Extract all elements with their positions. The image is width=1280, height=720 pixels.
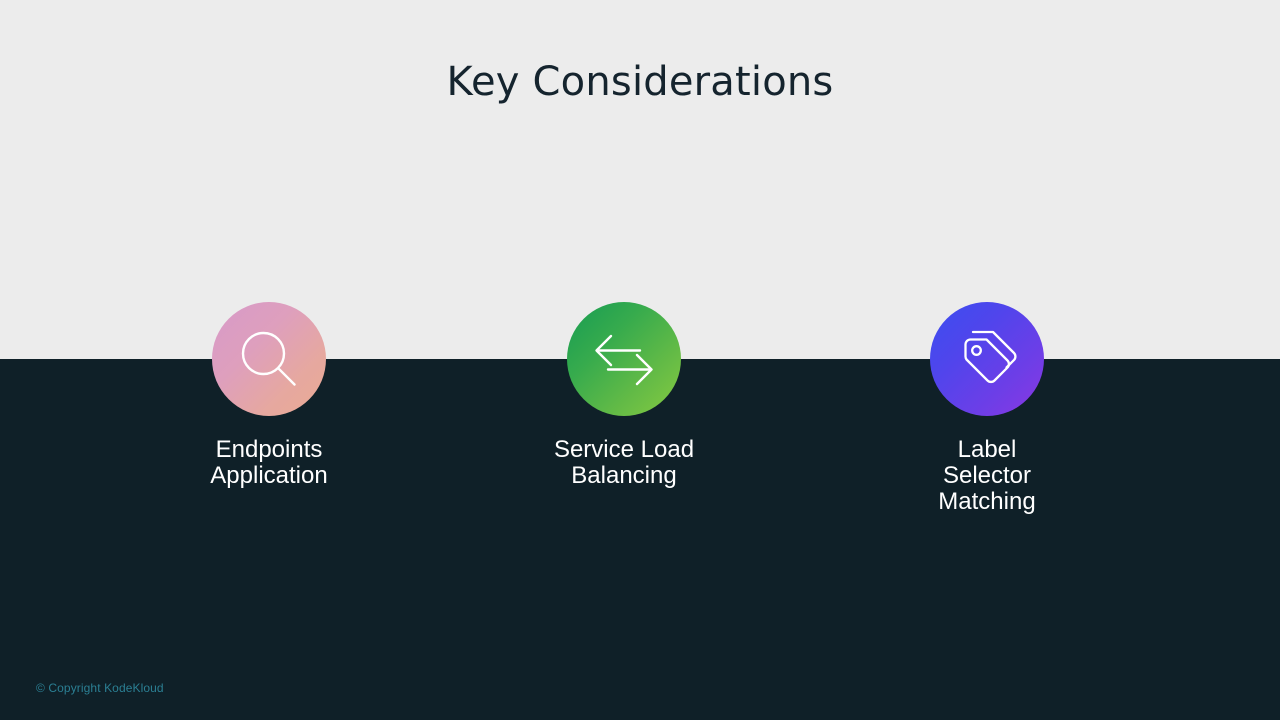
badge-endpoints-application: [212, 302, 326, 416]
label-line: Endpoints: [139, 437, 399, 463]
consideration-item-label-selector-matching[interactable]: Label Selector Matching: [857, 302, 1117, 515]
consideration-item-service-load-balancing[interactable]: Service Load Balancing: [494, 302, 754, 489]
label-line: Matching: [857, 489, 1117, 515]
label-line: Service Load: [494, 437, 754, 463]
badge-service-load-balancing: [567, 302, 681, 416]
slide-canvas: Key Considerations Endpoints Application: [0, 0, 1280, 720]
consideration-label-endpoints-application: Endpoints Application: [139, 437, 399, 489]
label-line: Application: [139, 463, 399, 489]
considerations-row: Endpoints Application: [0, 302, 1280, 602]
label-line: Balancing: [494, 463, 754, 489]
consideration-label-service-load-balancing: Service Load Balancing: [494, 437, 754, 489]
label-line: Selector: [857, 463, 1117, 489]
label-line: Label: [857, 437, 1117, 463]
page-title: Key Considerations: [0, 56, 1280, 108]
badge-label-selector-matching: [930, 302, 1044, 416]
consideration-item-endpoints-application[interactable]: Endpoints Application: [139, 302, 399, 489]
footer-copyright: © Copyright KodeKloud: [36, 680, 164, 696]
consideration-label-label-selector-matching: Label Selector Matching: [857, 437, 1117, 515]
